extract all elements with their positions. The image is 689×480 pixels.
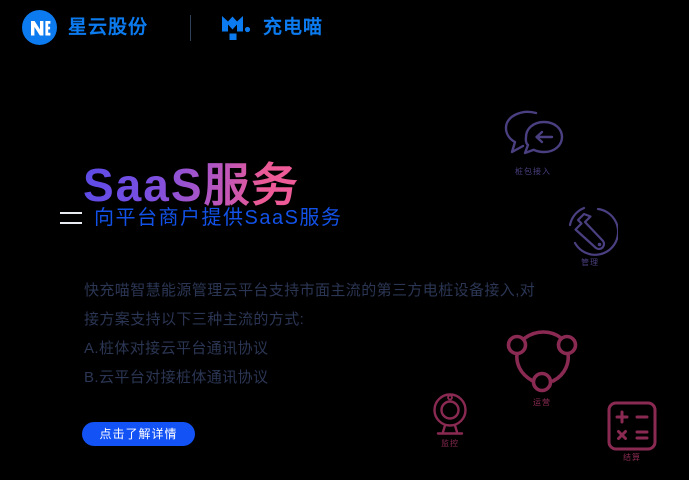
primary-brand-name: 星云股份	[68, 18, 148, 37]
network-share-icon	[503, 325, 581, 397]
page-subtitle: 向平台商户提供SaaS服务	[94, 208, 342, 228]
secondary-brand-name: 充电喵	[263, 18, 323, 37]
subtitle-row: 向平台商户提供SaaS服务	[60, 208, 342, 228]
primary-brand-logo[interactable]: 星云股份	[22, 10, 148, 45]
feature-icon-calculator[interactable]: 结算	[606, 400, 658, 462]
page-header: 星云股份 充电喵	[0, 0, 689, 55]
ne-circle-logo-icon	[22, 10, 57, 45]
feature-caption: 桩包接入	[515, 168, 551, 176]
feature-caption: 运营	[533, 399, 551, 407]
feature-caption: 结算	[623, 454, 641, 462]
learn-more-button[interactable]: 点击了解详情	[82, 422, 195, 446]
wrench-settings-icon	[562, 205, 618, 257]
chat-bubbles-arrow-icon	[500, 103, 566, 166]
description-line: 快充喵智慧能源管理云平台支持市面主流的第三方电桩设备接入,对	[84, 276, 584, 305]
feature-icon-network[interactable]: 运营	[503, 325, 581, 407]
secondary-brand-logo[interactable]: 充电喵	[221, 15, 323, 41]
calculator-icon	[606, 400, 658, 452]
camera-monitor-icon	[426, 390, 474, 438]
brand-divider	[190, 15, 191, 41]
feature-icon-camera[interactable]: 监控	[426, 390, 474, 448]
charging-cat-logo-icon	[221, 15, 255, 41]
feature-caption: 管理	[581, 259, 599, 267]
page-title: SaaS服务	[83, 159, 300, 212]
feature-icon-chat[interactable]: 桩包接入	[500, 103, 566, 176]
feature-icon-wrench[interactable]: 管理	[562, 205, 618, 267]
hamburger-menu-icon[interactable]	[60, 212, 82, 224]
feature-caption: 监控	[441, 440, 459, 448]
